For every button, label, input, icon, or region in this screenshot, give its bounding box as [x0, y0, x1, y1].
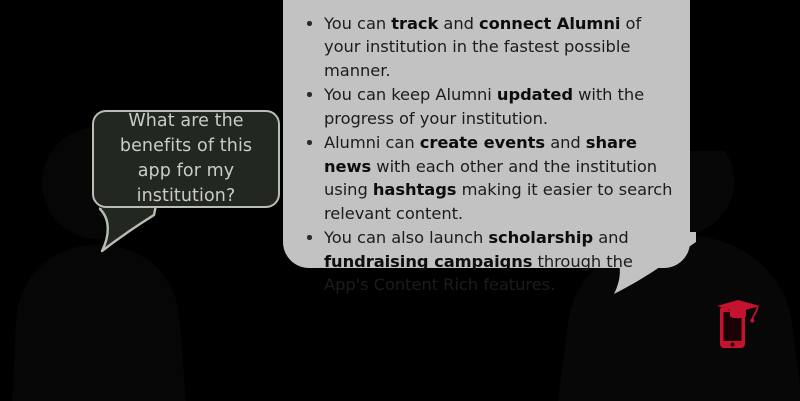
benefit-item-events-news-hashtags: Alumni can create events and share news …	[301, 131, 674, 225]
phone-graduation-cap-logo	[716, 294, 764, 352]
benefit-text: You can keep Alumni updated with the pro…	[324, 85, 644, 127]
benefit-item-track-connect: You can track and connect Alumni of your…	[301, 12, 674, 82]
benefit-text: You can also launch scholarship and fund…	[324, 228, 633, 294]
question-bubble-tail	[94, 203, 164, 255]
benefit-text: Alumni can create events and share news …	[324, 133, 672, 222]
benefit-item-keep-updated: You can keep Alumni updated with the pro…	[301, 83, 674, 130]
question-text: What are the benefits of this app for my…	[94, 109, 278, 208]
scene-canvas: You can track and connect Alumni of your…	[0, 0, 800, 401]
benefit-text: You can track and connect Alumni of your…	[324, 14, 641, 80]
question-speech-bubble: What are the benefits of this app for my…	[92, 110, 280, 208]
benefit-item-scholarship-fundraising: You can also launch scholarship and fund…	[301, 226, 674, 296]
answer-bubble-content: You can track and connect Alumni of your…	[283, 0, 690, 268]
benefits-list: You can track and connect Alumni of your…	[301, 12, 674, 296]
answer-speech-bubble: You can track and connect Alumni of your…	[283, 0, 690, 268]
